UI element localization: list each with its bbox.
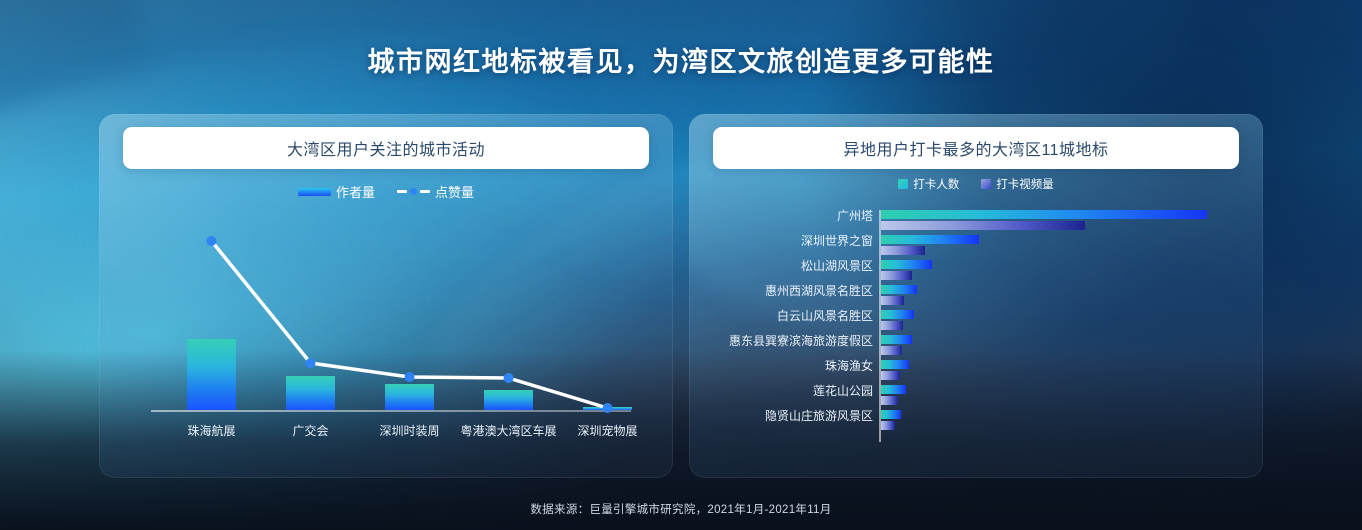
teal-square-swatch-icon xyxy=(898,179,908,189)
legend-label-likes: 点赞量 xyxy=(435,182,474,201)
legend-label-authors: 作者量 xyxy=(336,182,375,201)
purple-square-swatch-icon xyxy=(981,179,991,189)
bar-checkin-people-window-of-the-world[interactable] xyxy=(881,235,979,244)
panel-left-title: 大湾区用户关注的城市活动 xyxy=(287,136,485,160)
legend-item-likes[interactable]: 点赞量 xyxy=(397,182,474,201)
x-label-shenzhen-pet: 深圳宠物展 xyxy=(577,422,637,439)
legend-left: 作者量 点赞量 xyxy=(99,182,673,201)
panel-city-activities: 大湾区用户关注的城市活动 作者量 点赞量 xyxy=(99,114,673,478)
legend-right: 打卡人数 打卡视频量 xyxy=(689,176,1263,192)
bar-checkin-videos-yinxian-villa[interactable] xyxy=(881,421,895,430)
y-label-lianhuashan-park: 莲花山公园 xyxy=(813,385,873,397)
chart-row: 白云山风景名胜区 xyxy=(689,310,1263,335)
bar-checkin-people-songshan-lake[interactable] xyxy=(881,260,932,269)
x-label-zhuhai-airshow: 珠海航展 xyxy=(187,422,235,439)
y-label-guangzhou-tower: 广州塔 xyxy=(837,210,873,222)
x-label-canton-fair: 广交会 xyxy=(292,422,328,439)
legend-item-authors[interactable]: 作者量 xyxy=(298,182,375,201)
y-label-huizhou-west-lake: 惠州西湖风景名胜区 xyxy=(765,285,873,297)
chart-row: 深圳世界之窗 xyxy=(689,235,1263,260)
bar-checkin-people-lianhuashan-park[interactable] xyxy=(881,385,906,394)
bar-checkin-people-yinxian-villa[interactable] xyxy=(881,410,901,419)
slide-root: 城市网红地标被看见，为湾区文旅创造更多可能性 大湾区用户关注的城市活动 作者量 … xyxy=(0,0,1362,530)
chart-row: 莲花山公园 xyxy=(689,385,1263,410)
chart-row: 惠东县巽寮滨海旅游度假区 xyxy=(689,335,1263,360)
bar-checkin-videos-guangzhou-tower[interactable] xyxy=(881,221,1085,230)
bar-checkin-videos-lianhuashan-park[interactable] xyxy=(881,396,898,405)
legend-item-checkin-videos[interactable]: 打卡视频量 xyxy=(981,176,1054,192)
y-label-xunliao-bay: 惠东县巽寮滨海旅游度假区 xyxy=(729,335,873,347)
page-title: 城市网红地标被看见，为湾区文旅创造更多可能性 xyxy=(0,40,1362,79)
chart-row: 松山湖风景区 xyxy=(689,260,1263,285)
bar-checkin-videos-window-of-the-world[interactable] xyxy=(881,246,925,255)
bar-checkin-videos-songshan-lake[interactable] xyxy=(881,271,912,280)
left-chart-plot: 珠海航展 广交会 深圳时装周 粤港澳大湾区车展 深圳宠物展 xyxy=(125,210,647,478)
legend-label-checkin-videos: 打卡视频量 xyxy=(996,176,1054,192)
bar-checkin-people-guangzhou-tower[interactable] xyxy=(881,210,1207,219)
right-chart-plot: 广州塔 深圳世界之窗 松山湖风景区 惠州西湖风景名胜区 白云山风景名胜区 xyxy=(689,206,1263,474)
chart-row: 广州塔 xyxy=(689,210,1263,235)
y-label-window-of-the-world: 深圳世界之窗 xyxy=(801,235,873,247)
bar-checkin-videos-baiyun-mountain[interactable] xyxy=(881,321,903,330)
panel-landmark-checkins: 异地用户打卡最多的大湾区11城地标 打卡人数 打卡视频量 广州塔 深圳世界之窗 xyxy=(689,114,1263,478)
bar-checkin-people-huizhou-west-lake[interactable] xyxy=(881,285,917,294)
legend-item-checkin-people[interactable]: 打卡人数 xyxy=(898,176,959,192)
chart-row: 珠海渔女 xyxy=(689,360,1263,385)
dashed-line-swatch-icon xyxy=(397,188,430,196)
y-label-baiyun-mountain: 白云山风景名胜区 xyxy=(777,310,873,322)
bar-checkin-videos-xunliao-bay[interactable] xyxy=(881,346,902,355)
chart-row: 隐贤山庄旅游风景区 xyxy=(689,410,1263,435)
chart-row: 惠州西湖风景名胜区 xyxy=(689,285,1263,310)
bar-checkin-people-zhuhai-fisher-girl[interactable] xyxy=(881,360,909,369)
y-label-yinxian-villa: 隐贤山庄旅游风景区 xyxy=(765,410,873,422)
panel-right-title-pill: 异地用户打卡最多的大湾区11城地标 xyxy=(713,127,1239,169)
x-label-gba-auto-show: 粤港澳大湾区车展 xyxy=(460,422,556,439)
panel-right-title: 异地用户打卡最多的大湾区11城地标 xyxy=(843,136,1108,160)
y-label-zhuhai-fisher-girl: 珠海渔女 xyxy=(825,360,873,372)
bar-checkin-people-xunliao-bay[interactable] xyxy=(881,335,912,344)
y-label-songshan-lake: 松山湖风景区 xyxy=(801,260,873,272)
x-label-shenzhen-fashion: 深圳时装周 xyxy=(379,422,439,439)
panel-left-title-pill: 大湾区用户关注的城市活动 xyxy=(123,127,649,169)
bar-checkin-people-baiyun-mountain[interactable] xyxy=(881,310,914,319)
legend-label-checkin-people: 打卡人数 xyxy=(913,176,959,192)
bar-checkin-videos-huizhou-west-lake[interactable] xyxy=(881,296,904,305)
data-source-note: 数据来源：巨量引擎城市研究院，2021年1月-2021年11月 xyxy=(0,501,1362,517)
bar-checkin-videos-zhuhai-fisher-girl[interactable] xyxy=(881,371,900,380)
bar-swatch-icon xyxy=(298,188,331,196)
